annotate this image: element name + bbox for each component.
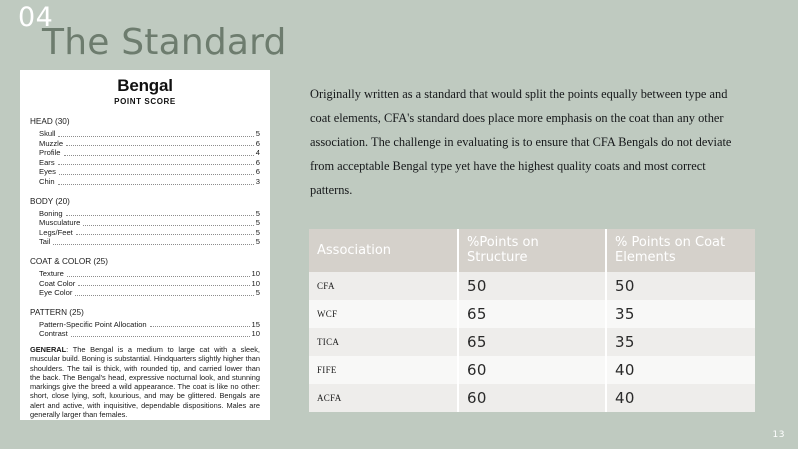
- dotted-leader: [71, 335, 250, 337]
- section-heading: COAT & COLOR (25): [30, 256, 260, 267]
- dotted-leader: [64, 154, 254, 156]
- score-label: Boning: [39, 209, 63, 219]
- score-row: Muzzle6: [30, 139, 260, 149]
- score-value: 5: [256, 228, 260, 238]
- dotted-leader: [75, 294, 253, 296]
- score-label: Musculature: [39, 218, 80, 228]
- cell-coat: 35: [607, 328, 755, 356]
- table-row: CFA5050: [309, 272, 755, 300]
- score-value: 10: [252, 329, 260, 339]
- cell-association: FIFE: [309, 356, 459, 384]
- cell-association: CFA: [309, 272, 459, 300]
- point-score-sections: HEAD (30)Skull5Muzzle6Profile4Ears6Eyes6…: [30, 116, 260, 339]
- page-number: 13: [773, 430, 785, 440]
- score-label: Contrast: [39, 329, 68, 339]
- score-value: 5: [256, 129, 260, 139]
- table-row: FIFE6040: [309, 356, 755, 384]
- score-value: 5: [256, 209, 260, 219]
- score-row: Musculature5: [30, 218, 260, 228]
- section-heading: HEAD (30): [30, 116, 260, 127]
- cell-coat: 35: [607, 300, 755, 328]
- document-subtitle: POINT SCORE: [30, 96, 260, 107]
- score-row: Profile4: [30, 148, 260, 158]
- table-body: CFA5050WCF6535TICA6535FIFE6040ACFA6040: [309, 272, 755, 412]
- score-row: Texture10: [30, 269, 260, 279]
- column-header-structure: %Points on Structure: [459, 229, 607, 272]
- dotted-leader: [66, 214, 254, 216]
- table-header-row: Association %Points on Structure % Point…: [309, 229, 755, 272]
- score-label: Chin: [39, 177, 55, 187]
- score-label: Eyes: [39, 167, 56, 177]
- cell-structure: 60: [459, 356, 607, 384]
- table-row: TICA6535: [309, 328, 755, 356]
- score-label: Pattern-Specific Point Allocation: [39, 320, 147, 330]
- cell-association: TICA: [309, 328, 459, 356]
- table-row: ACFA6040: [309, 384, 755, 412]
- score-label: Muzzle: [39, 139, 63, 149]
- dotted-leader: [59, 173, 254, 175]
- slide-heading: 04 The Standard: [16, 4, 436, 62]
- score-label: Coat Color: [39, 279, 75, 289]
- score-value: 5: [256, 218, 260, 228]
- dotted-leader: [83, 224, 253, 226]
- intro-paragraph: Originally written as a standard that wo…: [310, 82, 742, 202]
- score-label: Tail: [39, 237, 50, 247]
- dotted-leader: [58, 163, 254, 165]
- cell-structure: 65: [459, 300, 607, 328]
- cell-structure: 60: [459, 384, 607, 412]
- general-label: GENERAL: [30, 345, 66, 354]
- score-row: Tail5: [30, 237, 260, 247]
- score-row: Skull5: [30, 129, 260, 139]
- general-description: GENERAL: The Bengal is a medium to large…: [30, 345, 260, 419]
- breed-standard-card: Bengal POINT SCORE HEAD (30)Skull5Muzzle…: [20, 70, 270, 420]
- document-title: Bengal: [30, 76, 260, 95]
- score-value: 15: [252, 320, 260, 330]
- score-label: Eye Color: [39, 288, 72, 298]
- score-value: 4: [256, 148, 260, 158]
- association-comparison-table: Association %Points on Structure % Point…: [309, 229, 755, 412]
- dotted-leader: [150, 325, 250, 327]
- dotted-leader: [58, 183, 254, 185]
- cell-association: WCF: [309, 300, 459, 328]
- dotted-leader: [53, 243, 253, 245]
- dotted-leader: [67, 275, 250, 277]
- score-label: Skull: [39, 129, 55, 139]
- column-header-association: Association: [309, 229, 459, 272]
- score-label: Texture: [39, 269, 64, 279]
- cell-structure: 65: [459, 328, 607, 356]
- cell-coat: 50: [607, 272, 755, 300]
- cell-coat: 40: [607, 384, 755, 412]
- score-row: Contrast10: [30, 329, 260, 339]
- score-label: Ears: [39, 158, 55, 168]
- score-row: Legs/Feet5: [30, 228, 260, 238]
- score-row: Eyes6: [30, 167, 260, 177]
- score-value: 3: [256, 177, 260, 187]
- score-value: 6: [256, 139, 260, 149]
- score-value: 6: [256, 158, 260, 168]
- score-row: Coat Color10: [30, 279, 260, 289]
- table-row: WCF6535: [309, 300, 755, 328]
- dotted-leader: [76, 233, 254, 235]
- general-text: : The Bengal is a medium to large cat wi…: [30, 345, 260, 419]
- score-value: 10: [252, 269, 260, 279]
- score-value: 6: [256, 167, 260, 177]
- score-row: Pattern-Specific Point Allocation15: [30, 320, 260, 330]
- score-row: Eye Color5: [30, 288, 260, 298]
- cell-association: ACFA: [309, 384, 459, 412]
- page-title: The Standard: [16, 24, 436, 62]
- section-heading: BODY (20): [30, 196, 260, 207]
- cell-structure: 50: [459, 272, 607, 300]
- score-value: 10: [252, 279, 260, 289]
- section-heading: PATTERN (25): [30, 307, 260, 318]
- score-value: 5: [256, 237, 260, 247]
- score-row: Ears6: [30, 158, 260, 168]
- score-label: Legs/Feet: [39, 228, 73, 238]
- dotted-leader: [78, 284, 249, 286]
- score-value: 5: [256, 288, 260, 298]
- column-header-coat: % Points on Coat Elements: [607, 229, 755, 272]
- dotted-leader: [58, 135, 253, 137]
- dotted-leader: [66, 144, 254, 146]
- score-row: Chin3: [30, 177, 260, 187]
- score-label: Profile: [39, 148, 61, 158]
- table-header: Association %Points on Structure % Point…: [309, 229, 755, 272]
- score-row: Boning5: [30, 209, 260, 219]
- cell-coat: 40: [607, 356, 755, 384]
